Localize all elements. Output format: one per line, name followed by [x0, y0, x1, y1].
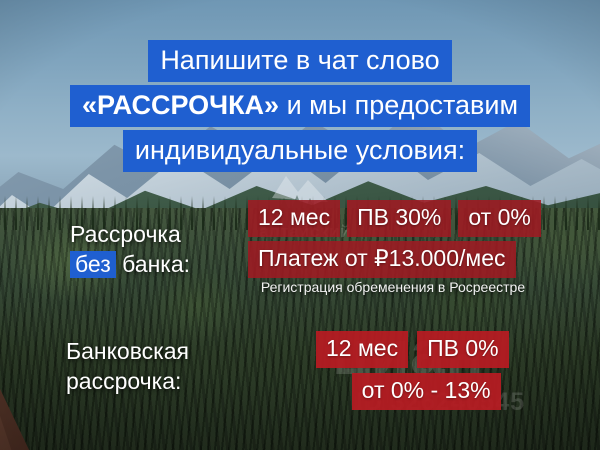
offer-label-no-bank-line1: Рассрочка [70, 221, 181, 247]
headline-line-1: Напишите в чат слово [148, 40, 451, 82]
offer-badges-bank: 12 мес ПВ 0% от 0% - 13% [316, 331, 509, 410]
headline-keyword: «РАССРОЧКА» [82, 90, 279, 120]
headline-line-2: «РАССРОЧКА» и мы предоставим [70, 85, 530, 127]
headline-line-2-rest: и мы предоставим [279, 90, 518, 120]
offer-label-bank-line1: Банковская [66, 338, 189, 364]
badge-row-primary: 12 мес ПВ 0% [316, 331, 509, 368]
badge-down-payment: ПВ 0% [417, 331, 509, 368]
headline-line-3: индивидуальные условия: [123, 130, 477, 172]
badge-row-secondary: Платеж от ₽13.000/мес [248, 241, 541, 278]
badge-rate-range: от 0% - 13% [352, 373, 501, 410]
offer-label-bank: Банковская рассрочка: [66, 337, 189, 397]
offer-badges-no-bank: 12 мес ПВ 30% от 0% Платеж от ₽13.000/ме… [248, 200, 541, 278]
badge-down-payment: ПВ 30% [347, 200, 451, 237]
offer-fineprint-no-bank: Регистрация обременения в Росреестре [248, 279, 538, 296]
offer-label-no-bank-chip: без [70, 251, 116, 278]
headline-block: Напишите в чат слово «РАССРОЧКА» и мы пр… [0, 40, 600, 172]
badge-term: 12 мес [248, 200, 340, 237]
badge-rate: от 0% [458, 200, 540, 237]
badge-monthly-payment: Платеж от ₽13.000/мес [248, 241, 516, 278]
badge-row-secondary: от 0% - 13% [316, 373, 509, 410]
offer-label-no-bank: Рассрочка без банка: [70, 220, 190, 280]
promo-banner: алтайский циан ID 326240545 Напишите в ч… [0, 0, 600, 450]
badge-row-primary: 12 мес ПВ 30% от 0% [248, 200, 541, 237]
offer-label-bank-line2: рассрочка: [66, 368, 181, 394]
offer-label-no-bank-line2: банка: [116, 251, 190, 277]
badge-term: 12 мес [316, 331, 408, 368]
